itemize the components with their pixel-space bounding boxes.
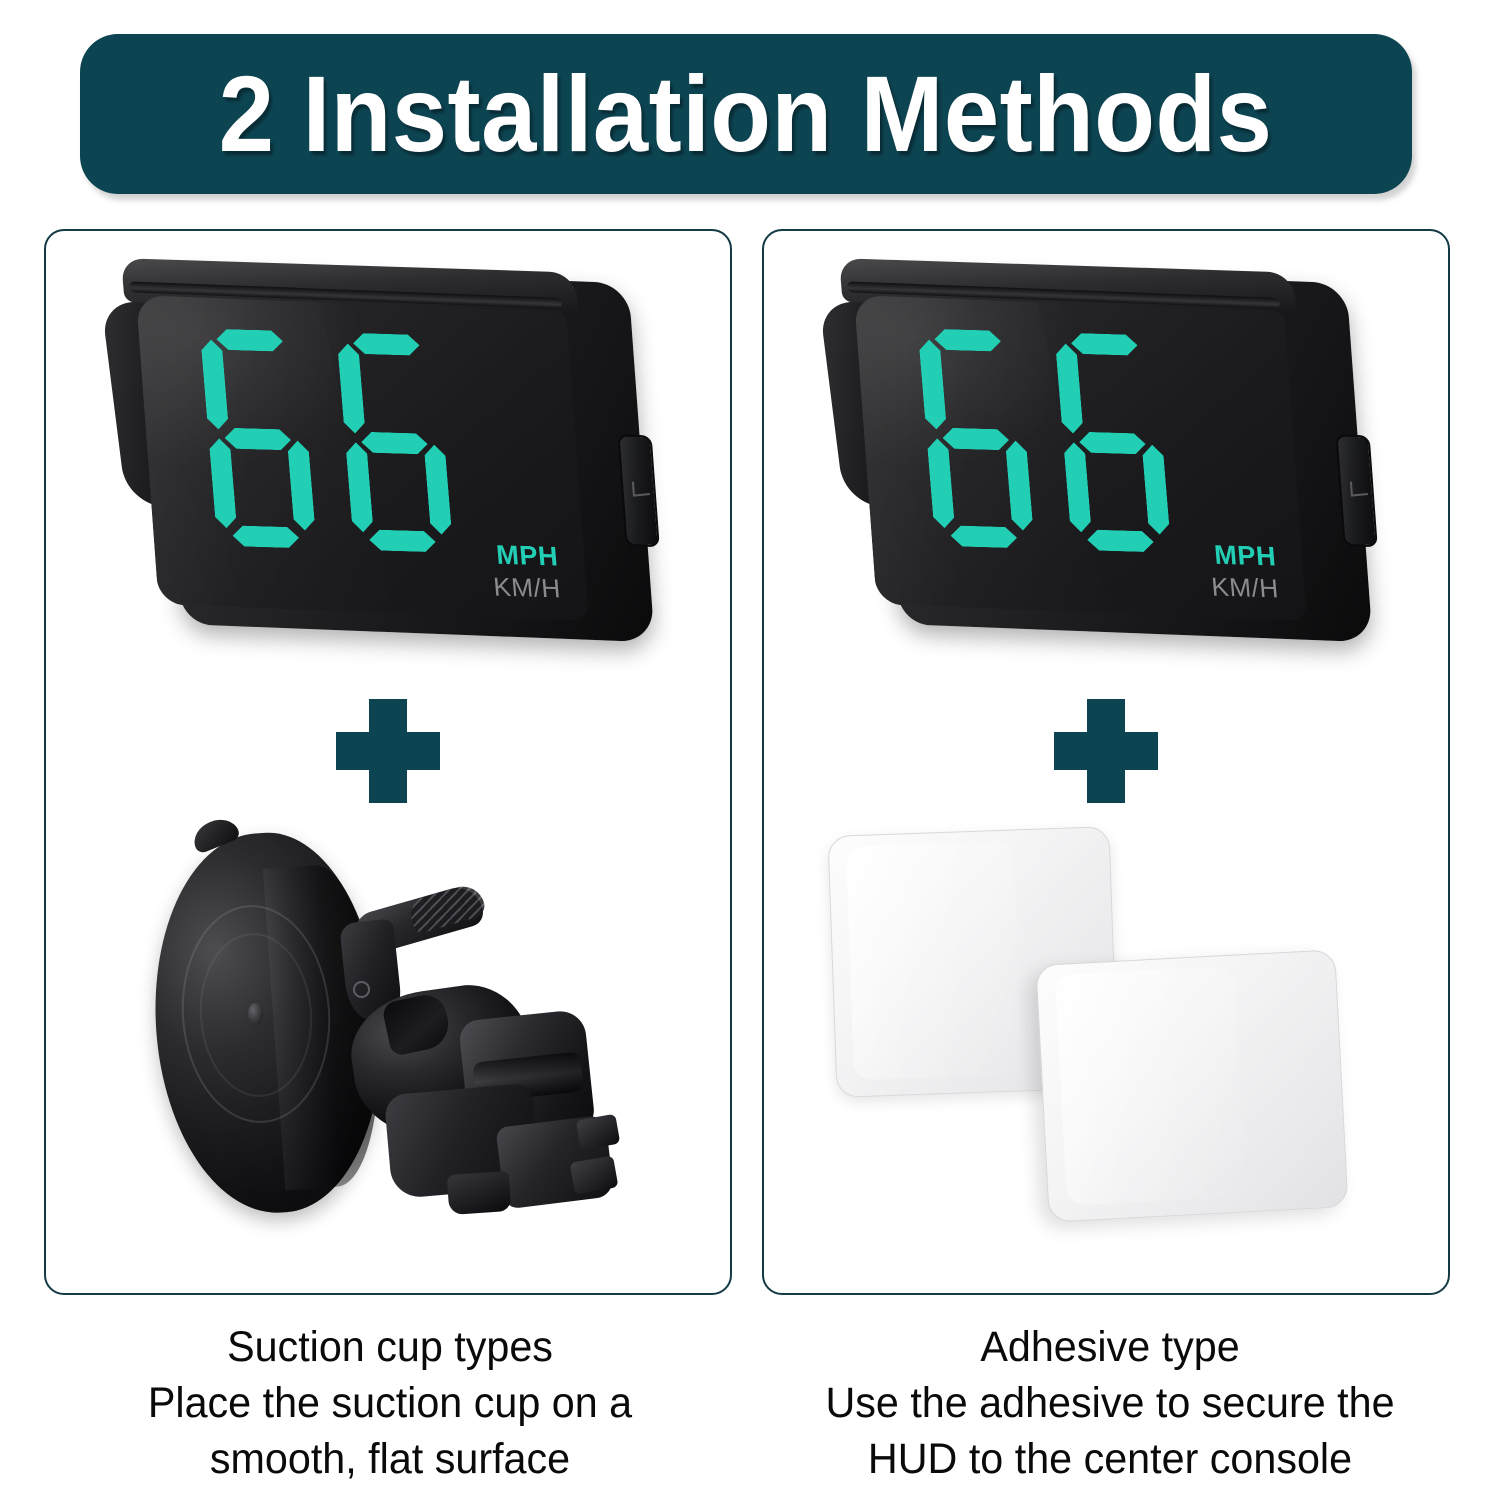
mount-lever-pivot-screw [353, 981, 370, 998]
unit-labels: MPH KM/H [490, 540, 563, 605]
suction-cup-mount [148, 821, 628, 1271]
adhesive-pads [806, 821, 1406, 1271]
plus-separator-icon [336, 699, 440, 803]
mount-prong [447, 1171, 512, 1215]
caption-line: Place the suction cup on a [54, 1376, 726, 1432]
mount-clip-upper [576, 1114, 621, 1150]
hud-screen: MPH KM/H [854, 295, 1307, 621]
caption-line: Use the adhesive to secure the [774, 1376, 1446, 1432]
hud-device-adhesive: MPH KM/H [831, 257, 1381, 672]
speed-readout [192, 328, 459, 553]
hud-screen: MPH KM/H [136, 295, 589, 621]
infographic-root: 2 Installation Methods [0, 0, 1500, 1500]
hud-device-suction: MPH KM/H [113, 257, 663, 672]
seven-segment-digit [192, 328, 322, 549]
caption-heading: Adhesive type [774, 1320, 1446, 1376]
caption-suction-cup: Suction cup types Place the suction cup … [54, 1320, 726, 1488]
unit-kmh-label: KM/H [1210, 571, 1280, 605]
seven-segment-digit [328, 332, 458, 553]
unit-kmh-label: KM/H [492, 571, 562, 605]
page-title: 2 Installation Methods [219, 60, 1273, 168]
seven-segment-digit [1046, 332, 1176, 553]
mount-clip-lower [570, 1155, 619, 1194]
caption-line: HUD to the center console [774, 1432, 1446, 1488]
unit-mph-label: MPH [1208, 540, 1278, 573]
method-panel-suction-cup: MPH KM/H [44, 229, 732, 1295]
adhesive-pad [1035, 949, 1348, 1222]
speed-readout [910, 328, 1177, 553]
unit-mph-label: MPH [490, 540, 560, 573]
caption-line: smooth, flat surface [54, 1432, 726, 1488]
method-panel-adhesive: MPH KM/H [762, 229, 1450, 1295]
seven-segment-digit [910, 328, 1040, 549]
caption-adhesive: Adhesive type Use the adhesive to secure… [774, 1320, 1446, 1488]
hud-usb-port-icon [1335, 434, 1377, 547]
hud-usb-port-icon [617, 434, 659, 547]
plus-separator-icon [1054, 699, 1158, 803]
caption-heading: Suction cup types [54, 1320, 726, 1376]
unit-labels: MPH KM/H [1208, 540, 1281, 605]
title-banner: 2 Installation Methods [80, 34, 1412, 194]
